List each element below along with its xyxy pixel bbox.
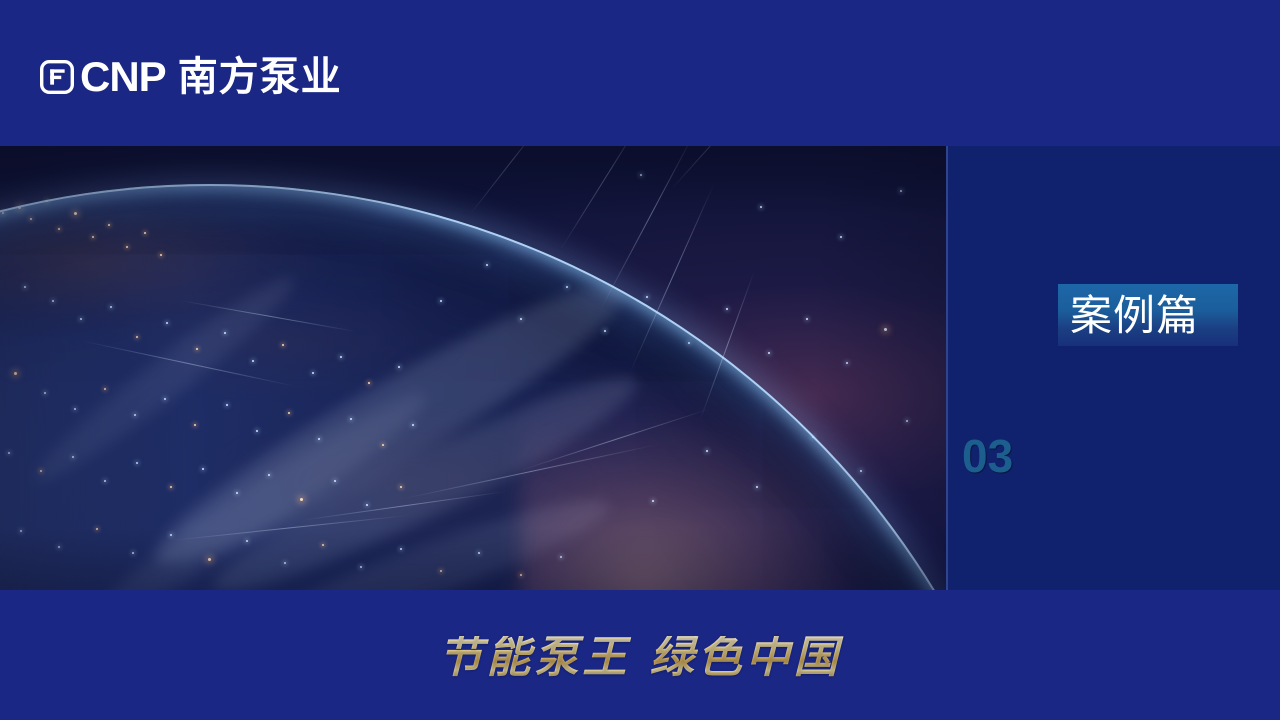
presentation-slide: CNP 南方泵业 03 案例篇 节能泵王 绿色中国 bbox=[0, 0, 1280, 720]
company-slogan: 节能泵王 绿色中国 bbox=[0, 636, 1280, 680]
section-heading-block: 03 案例篇 bbox=[946, 146, 1280, 590]
section-title: 案例篇 bbox=[1070, 295, 1199, 337]
logo-latin-text: CNP bbox=[80, 56, 166, 98]
brand-logo[interactable]: CNP 南方泵业 bbox=[40, 52, 342, 102]
cnp-logo-mark-icon bbox=[40, 60, 74, 94]
earth-from-space-photo bbox=[0, 146, 946, 590]
logo-chinese-text: 南方泵业 bbox=[178, 57, 342, 97]
section-number: 03 bbox=[962, 433, 1013, 479]
header-band: CNP 南方泵业 bbox=[0, 0, 1280, 146]
section-title-group: 案例篇 bbox=[1058, 284, 1238, 346]
